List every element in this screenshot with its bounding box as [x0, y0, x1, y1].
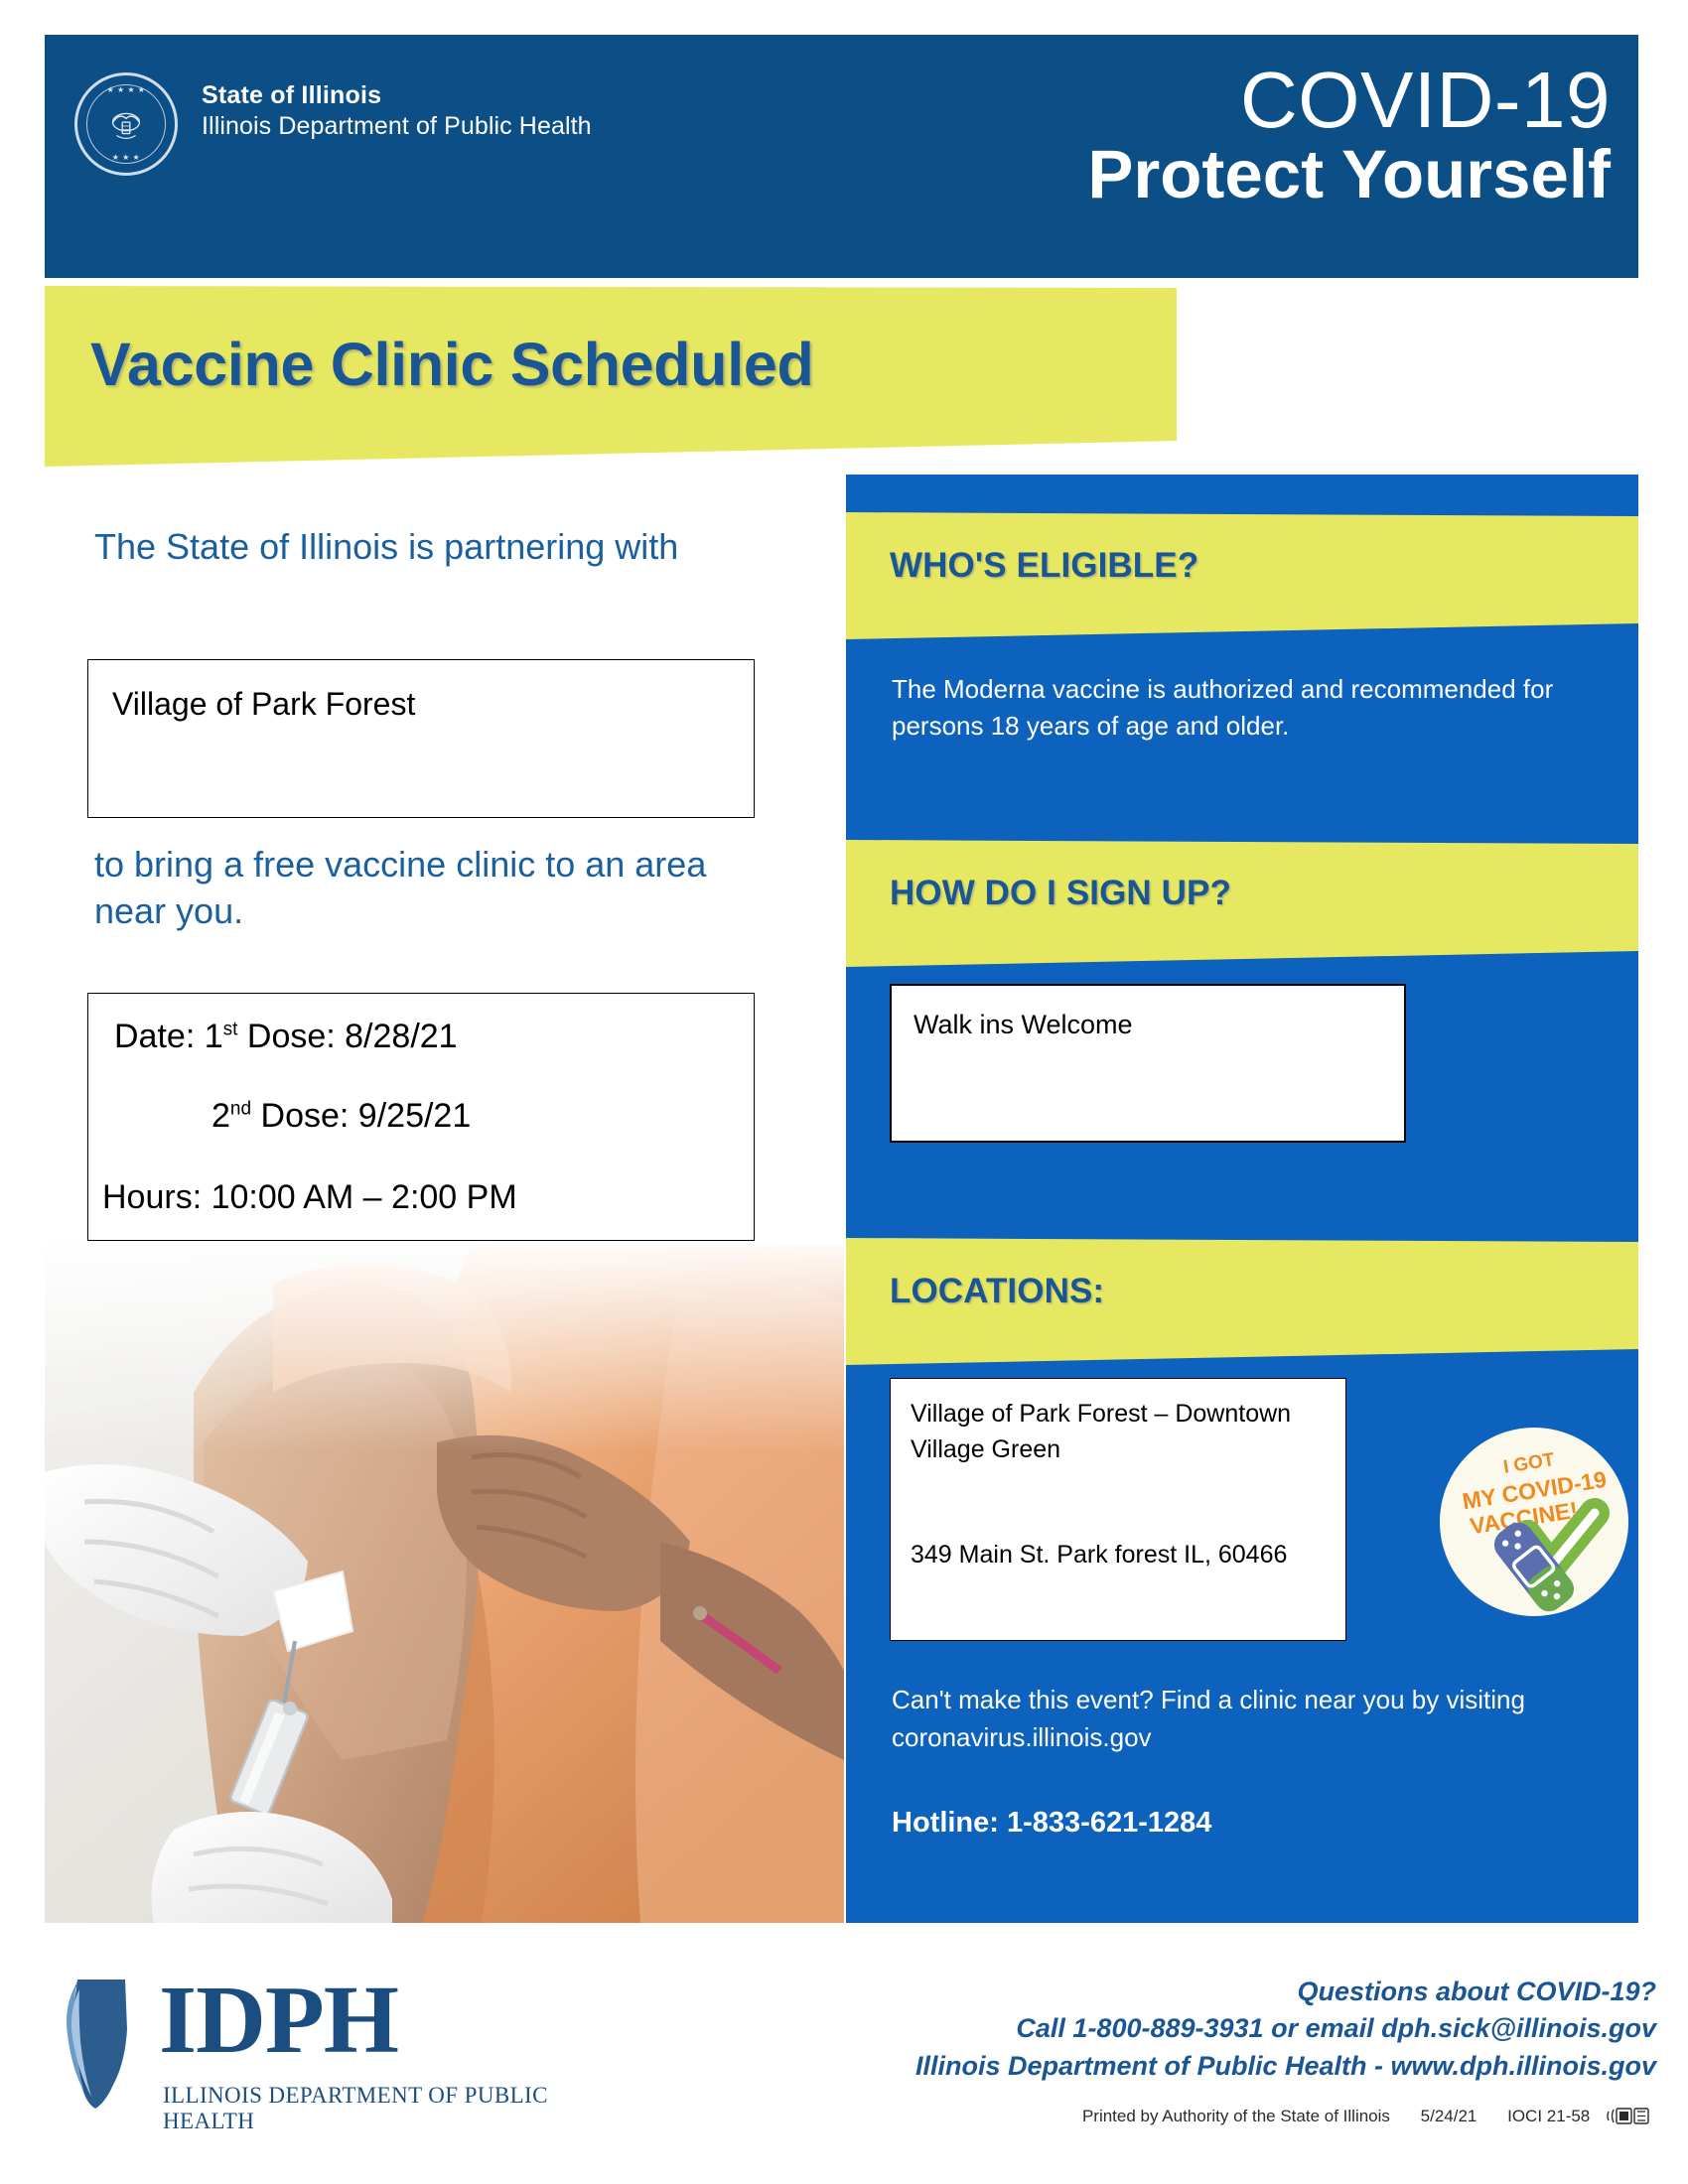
- right-column: WHO'S ELIGIBLE? The Moderna vaccine is a…: [846, 475, 1638, 1923]
- location-box: Village of Park Forest – Downtown Villag…: [890, 1378, 1346, 1641]
- idph-logo: IDPH ILLINOIS DEPARTMENT OF PUBLIC HEALT…: [48, 1968, 564, 2126]
- vaccination-photo: [45, 1244, 844, 1923]
- signup-banner: HOW DO I SIGN UP?: [846, 840, 1638, 967]
- header-title-protect: Protect Yourself: [1087, 139, 1611, 210]
- location-name: Village of Park Forest – Downtown Villag…: [911, 1397, 1328, 1467]
- lead-text-2: to bring a free vaccine clinic to an are…: [94, 842, 750, 935]
- location-address: 349 Main St. Park forest IL, 60466: [911, 1538, 1328, 1573]
- print-date: 5/24/21: [1421, 2107, 1477, 2125]
- header-title: COVID-19 Protect Yourself: [1087, 63, 1611, 210]
- partner-name-value: Village of Park Forest: [112, 686, 415, 723]
- footer-call-email: Call 1-800-889-3931 or email dph.sick@il…: [915, 2010, 1656, 2047]
- seal-top-text: ★ ★ ★ ★: [77, 85, 175, 94]
- vaccination-illustration: [45, 1244, 844, 1923]
- signup-value-box: Walk ins Welcome: [890, 984, 1406, 1143]
- ordinal-nd: nd: [230, 1099, 251, 1120]
- main-banner-title: Vaccine Clinic Scheduled: [90, 330, 813, 399]
- agency-line-2: Illinois Department of Public Health: [202, 111, 592, 142]
- illinois-map-icon: [48, 1972, 157, 2111]
- eligible-banner: WHO'S ELIGIBLE?: [846, 512, 1638, 639]
- seal-eagle-icon: [103, 101, 149, 147]
- date-line-second-dose: 2nd Dose: 9/25/21: [211, 1097, 471, 1136]
- printed-by-text: Printed by Authority of the State of Ill…: [1082, 2107, 1390, 2125]
- signup-value: Walk ins Welcome: [914, 1010, 1133, 1040]
- signup-heading: HOW DO I SIGN UP?: [890, 874, 1231, 913]
- partner-name-box: Village of Park Forest: [87, 659, 755, 818]
- print-authority-line: Printed by Authority of the State of Ill…: [1082, 2107, 1652, 2126]
- ordinal-st: st: [223, 1020, 238, 1040]
- footer-questions: Questions about COVID-19?: [915, 1974, 1656, 2010]
- locations-banner: LOCATIONS:: [846, 1238, 1638, 1365]
- agency-line-1: State of Illinois: [202, 80, 592, 111]
- eligible-heading: WHO'S ELIGIBLE?: [890, 546, 1198, 586]
- cant-make-event-text: Can't make this event? Find a clinic nea…: [892, 1682, 1587, 1756]
- date-line-first-dose: Date: 1st Dose: 8/28/21: [114, 1018, 458, 1056]
- union-print-mark-icon: [1607, 2108, 1652, 2124]
- footer-dept-web: Illinois Department of Public Health - w…: [915, 2048, 1656, 2085]
- locations-heading: LOCATIONS:: [890, 1272, 1104, 1311]
- idph-letters: IDPH: [159, 1972, 398, 2069]
- header-bar: ★ ★ ★ ★ ★ ★ ★ State of Illinois Illinois…: [45, 35, 1638, 278]
- state-seal-icon: ★ ★ ★ ★ ★ ★ ★: [74, 72, 178, 176]
- header-title-covid: COVID-19: [1087, 63, 1611, 139]
- idph-subtitle: ILLINOIS DEPARTMENT OF PUBLIC HEALTH: [163, 2083, 564, 2134]
- footer-contact: Questions about COVID-19? Call 1-800-889…: [915, 1974, 1656, 2085]
- agency-name: State of Illinois Illinois Department of…: [202, 80, 592, 143]
- lead-text: The State of Illinois is partnering with: [94, 524, 730, 570]
- eligible-body: The Moderna vaccine is authorized and re…: [892, 671, 1587, 746]
- badge-bandage-check-icon: [1440, 1428, 1628, 1616]
- flyer-page: ★ ★ ★ ★ ★ ★ ★ State of Illinois Illinois…: [0, 0, 1688, 2184]
- main-banner: Vaccine Clinic Scheduled: [45, 286, 1177, 467]
- date-box: Date: 1st Dose: 8/28/21 2nd Dose: 9/25/2…: [87, 993, 755, 1241]
- hotline-text: Hotline: 1-833-621-1284: [892, 1807, 1211, 1840]
- date-line-hours: Hours: 10:00 AM – 2:00 PM: [102, 1178, 517, 1217]
- ioci-code: IOCI 21-58: [1507, 2107, 1590, 2125]
- vaccine-sticker-badge: I GOT MY COVID-19 VACCINE!: [1440, 1428, 1628, 1616]
- seal-bottom-text: ★ ★ ★: [77, 153, 175, 162]
